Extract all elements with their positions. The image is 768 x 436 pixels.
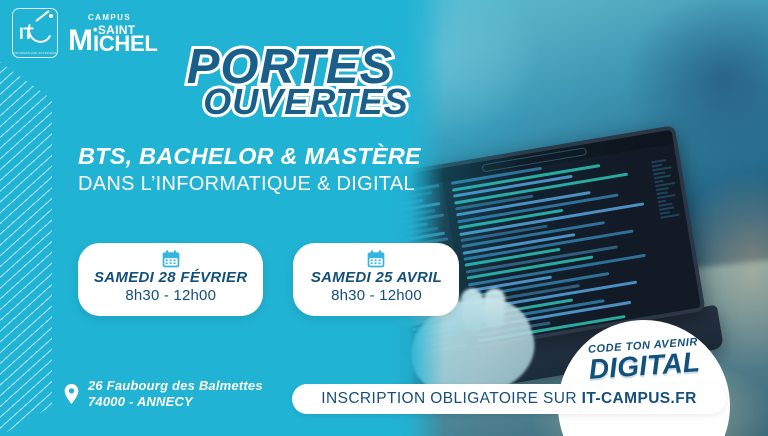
it-logo-tagline: INFORMATIQUE SUPERIEUR xyxy=(13,52,57,55)
it-swoosh-dot-icon xyxy=(49,14,53,18)
address-text: 26 Faubourg des Balmettes 74000 - ANNECY xyxy=(88,378,263,411)
registration-cta-bar[interactable]: INSCRIPTION OBLIGATOIRE SUR IT-CAMPUS.FR xyxy=(292,384,726,414)
cta-text: INSCRIPTION OBLIGATOIRE SUR IT-CAMPUS.FR xyxy=(321,390,696,408)
it-logo: IT INFORMATIQUE SUPERIEUR xyxy=(12,8,58,58)
cta-prefix: INSCRIPTION OBLIGATOIRE SUR xyxy=(321,390,581,407)
headline-line-2: OUVERTES xyxy=(162,84,450,120)
date-card-1-hours: 8h30 - 12h00 xyxy=(94,287,247,304)
subtitle: BTS, BACHELOR & MASTÈRE DANS L’INFORMATI… xyxy=(78,144,421,196)
date-cards: SAMEDI 28 FÉVRIER 8h30 - 12h00 SAME xyxy=(78,243,459,316)
date-card-2-day: SAMEDI 25 AVRIL xyxy=(309,269,443,286)
campus-label: CAMPUS xyxy=(88,14,158,22)
date-card-2[interactable]: SAMEDI 25 AVRIL 8h30 - 12h00 xyxy=(293,243,459,316)
diagonal-stripe-pattern xyxy=(0,62,52,436)
subtitle-line-1: BTS, BACHELOR & MASTÈRE xyxy=(78,144,421,170)
date-card-2-hours: 8h30 - 12h00 xyxy=(309,287,443,304)
poster-canvas: IT INFORMATIQUE SUPERIEUR CAMPUS M •SAIN… xyxy=(0,0,768,436)
michel-m: M xyxy=(68,29,92,54)
location-pin-icon xyxy=(64,384,79,404)
address-line-2: 74000 - ANNECY xyxy=(88,394,263,410)
cta-site: IT-CAMPUS.FR xyxy=(582,390,697,407)
address-line-1: 26 Faubourg des Balmettes xyxy=(88,378,263,394)
subtitle-line-2: DANS L’INFORMATIQUE & DIGITAL xyxy=(78,172,421,196)
headline: PORTES OUVERTES xyxy=(130,44,450,120)
address-block: 26 Faubourg des Balmettes 74000 - ANNECY xyxy=(64,378,263,411)
calendar-icon xyxy=(366,249,386,269)
date-card-1-day: SAMEDI 28 FÉVRIER xyxy=(94,269,247,286)
calendar-icon xyxy=(161,249,181,269)
date-card-1[interactable]: SAMEDI 28 FÉVRIER 8h30 - 12h00 xyxy=(78,243,263,316)
